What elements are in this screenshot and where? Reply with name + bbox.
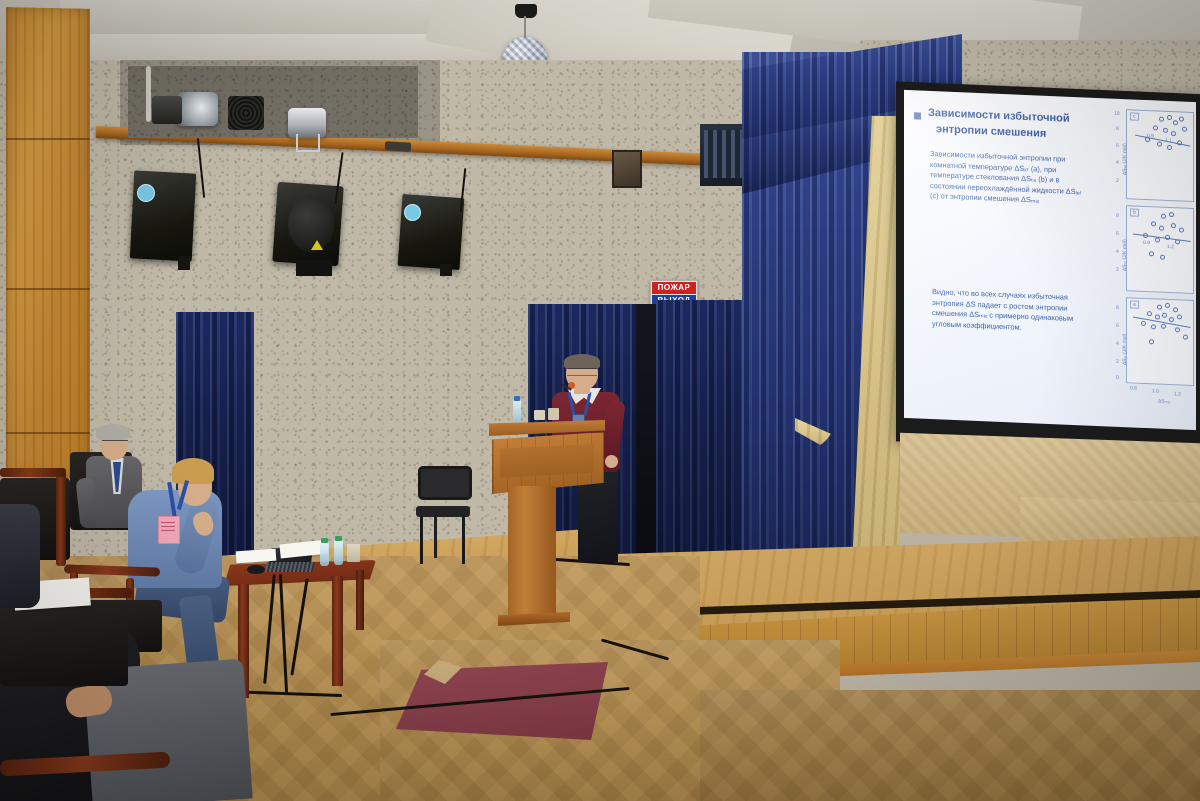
stage-light-1 (176, 92, 218, 126)
speaker-right-bracket (440, 264, 452, 276)
stage-chair-leg-2 (462, 516, 465, 564)
podium-bottle-cap (514, 396, 520, 401)
presenter-hand-right (605, 455, 618, 468)
table-leg-right (332, 576, 343, 686)
table-cups-stack (347, 544, 360, 562)
foreground-chair-seat (0, 600, 128, 686)
lecture-hall-photo: ПОЖАР ВЫХОД Зависимости избыточной энтро… (0, 0, 1200, 801)
chart-b-ylabel: ΔSₜ₉ (J/K·mol) (1122, 239, 1128, 271)
wall-speaker-left (130, 170, 197, 261)
blue-sweater-hair (172, 458, 214, 484)
ceiling-conduit (146, 66, 151, 122)
stage-light-2 (228, 96, 264, 130)
disco-ball-mount (515, 4, 537, 18)
table-leg-back (356, 570, 364, 630)
chair-frame-top-1 (0, 468, 66, 477)
chart-panel-b-tag: b (1130, 208, 1139, 216)
table-bottle-cap-1 (321, 538, 328, 543)
chart-panel-a-tag: a (1130, 300, 1139, 308)
chart-a-xlabel: ΔSₘᵢₓ (1158, 399, 1170, 406)
speaker-badge-right (404, 204, 421, 221)
table-bottle-cap-2 (335, 536, 342, 541)
presentation-slide: Зависимости избыточной энтропии смешения… (904, 90, 1196, 430)
curtain-back-center-gap (636, 304, 658, 562)
stage-chair-back (418, 466, 472, 500)
chart-a-xtick-2: 1.0 (1152, 388, 1159, 394)
slide-title-bullet (914, 112, 921, 119)
wood-panel-seam-1 (6, 138, 90, 140)
wall-wood-panel-left (6, 7, 90, 479)
chart-panel-c: c 0.9 1.1 (1126, 109, 1194, 202)
stage-chair-leg-3 (434, 512, 437, 558)
stage-light-3-yoke (296, 134, 320, 152)
grey-suit-glasses (102, 440, 128, 446)
podium-column (508, 486, 556, 618)
presenter-hair (564, 354, 600, 369)
speaker-logo-center (311, 240, 323, 250)
stage-light-1-body (152, 96, 182, 124)
laptop-keyboard (265, 562, 315, 572)
wood-panel-seam-2 (6, 288, 90, 290)
podium-cup-2 (548, 408, 559, 420)
chair-frame-1 (56, 470, 66, 566)
chart-panel-a: a (1126, 297, 1194, 386)
slide-paragraph-2: Видно, что во всех случаях избыточная эн… (932, 287, 1090, 336)
slide-paragraph-1: Зависимости избыточной энтропии при комн… (930, 149, 1090, 208)
chart-a-xtick-3: 1.2 (1174, 391, 1181, 397)
presenter-glasses (567, 368, 597, 376)
chart-panel-c-tag: c (1130, 112, 1139, 120)
chart-a-ylabel: ΔSₓₜ (J/K·mol) (1122, 334, 1128, 366)
podium-cup-1 (534, 410, 545, 420)
disco-ball-rod (524, 16, 526, 38)
slide-charts: c 0.9 1.1 ΔSₗₑₗ (J/K·mol) 10 8 6 (1110, 109, 1192, 412)
table-bottle-1 (320, 542, 329, 566)
ceiling-panel-1 (60, 0, 480, 35)
grey-suit-hair (96, 424, 130, 440)
chart-c-ylabel: ΔSₗₑₗ (J/K·mol) (1122, 143, 1128, 175)
speaker-center-bracket (296, 260, 332, 276)
rail-picture (612, 150, 642, 188)
table-bottle-2 (334, 540, 343, 565)
rail-box (385, 141, 411, 151)
podium-water-bottle (513, 400, 521, 422)
wood-panel-seam-3 (6, 432, 90, 434)
hall-floor-under-stage (700, 690, 1200, 801)
speaker-badge-left (137, 184, 155, 202)
badge-text-lines (161, 522, 175, 534)
chart-panel-b: b 0.9 1.2 (1126, 205, 1194, 294)
curtain-back-right (656, 300, 748, 562)
stage-chair-leg-1 (420, 516, 423, 564)
speaker-left-bracket (178, 256, 190, 270)
computer-mouse-icon (247, 565, 265, 574)
left-edge-person (0, 504, 40, 608)
fire-sign-label: ПОЖАР (652, 282, 696, 294)
podium-panel-inset (500, 444, 594, 478)
chart-a-xtick-1: 0.8 (1130, 385, 1137, 391)
